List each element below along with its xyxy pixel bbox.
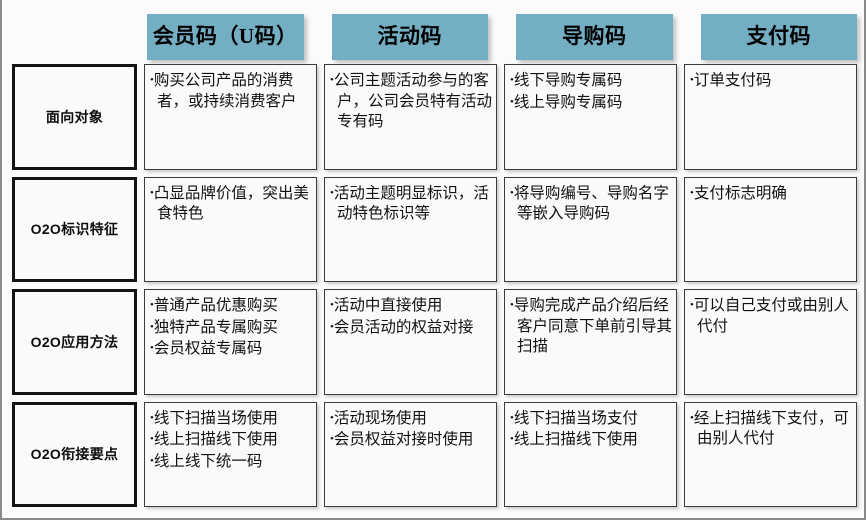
cell-r1c1: 活动主题明显标识，活动特色标识等 [324, 177, 497, 283]
cell-r3c2: 线下扫描当场支付 线上扫描线下使用 [504, 402, 677, 508]
list-item: 线下导购专属码 [510, 71, 673, 92]
cell-r3c1: 活动现场使用 会员权益对接时使用 [324, 402, 497, 508]
cell-r1c2: 将导购编号、导购名字等嵌入导购码 [504, 177, 677, 283]
list-item: 可以自己支付或由别人代付 [690, 296, 853, 337]
list-item: 购买公司产品的消费者，或持续消费客户 [150, 71, 313, 112]
bullet-list: 订单支付码 [690, 71, 853, 92]
bullet-list: 活动现场使用 会员权益对接时使用 [330, 409, 493, 451]
cell-r2c0: 普通产品优惠购买 独特产品专属购买 会员权益专属码 [144, 289, 317, 395]
table-row: O2O衔接要点 线下扫描当场使用 线上扫描线下使用 线上线下统一码 活动现场使用… [12, 402, 857, 508]
bullet-list: 线下扫描当场使用 线上扫描线下使用 线上线下统一码 [150, 409, 313, 473]
list-item: 独特产品专属购买 [150, 318, 313, 339]
list-item: 会员活动的权益对接 [330, 318, 493, 339]
bullet-list: 支付标志明确 [690, 184, 853, 205]
cell-r2c3: 可以自己支付或由别人代付 [684, 289, 857, 395]
cell-r1c0: 凸显品牌价值，突出美食特色 [144, 177, 317, 283]
table-row: O2O标识特征 凸显品牌价值，突出美食特色 活动主题明显标识，活动特色标识等 将… [12, 177, 857, 283]
row-label-connection-points: O2O衔接要点 [12, 402, 137, 508]
list-item: 凸显品牌价值，突出美食特色 [150, 184, 313, 225]
table-row: 面向对象 购买公司产品的消费者，或持续消费客户 公司主题活动参与的客户，公司会员… [12, 64, 857, 170]
list-item: 线下扫描当场支付 [510, 409, 673, 430]
list-item: 经上扫描线下支付，可由别人代付 [690, 409, 853, 450]
bullet-list: 凸显品牌价值，突出美食特色 [150, 184, 313, 225]
list-item: 活动现场使用 [330, 409, 493, 430]
list-item: 会员权益专属码 [150, 339, 313, 360]
cell-r1c3: 支付标志明确 [684, 177, 857, 283]
table-row: O2O应用方法 普通产品优惠购买 独特产品专属购买 会员权益专属码 活动中直接使… [12, 289, 857, 395]
list-item: 订单支付码 [690, 71, 853, 92]
comparison-matrix: 面向对象 购买公司产品的消费者，或持续消费客户 公司主题活动参与的客户，公司会员… [12, 64, 857, 507]
list-item: 线上扫描线下使用 [510, 430, 673, 451]
list-item: 线上扫描线下使用 [150, 430, 313, 451]
bullet-list: 将导购编号、导购名字等嵌入导购码 [510, 184, 673, 225]
row-label-identity-features: O2O标识特征 [12, 177, 137, 283]
bullet-list: 公司主题活动参与的客户，公司会员特有活动专有码 [330, 71, 493, 133]
list-item: 线下扫描当场使用 [150, 409, 313, 430]
cell-r3c0: 线下扫描当场使用 线上扫描线下使用 线上线下统一码 [144, 402, 317, 508]
cell-r3c3: 经上扫描线下支付，可由别人代付 [684, 402, 857, 508]
list-item: 公司主题活动参与的客户，公司会员特有活动专有码 [330, 71, 493, 133]
cell-r0c1: 公司主题活动参与的客户，公司会员特有活动专有码 [324, 64, 497, 170]
column-header-member-code: 会员码（U码） [147, 14, 304, 60]
bullet-list: 可以自己支付或由别人代付 [690, 296, 853, 337]
list-item: 线上导购专属码 [510, 93, 673, 114]
column-header-guide-code: 导购码 [516, 14, 673, 60]
list-item: 导购完成产品介绍后经客户同意下单前引导其扫描 [510, 296, 673, 358]
row-label-application-method: O2O应用方法 [12, 289, 137, 395]
bullet-list: 经上扫描线下支付，可由别人代付 [690, 409, 853, 450]
bullet-list: 线下扫描当场支付 线上扫描线下使用 [510, 409, 673, 451]
list-item: 线上线下统一码 [150, 452, 313, 473]
list-item: 活动主题明显标识，活动特色标识等 [330, 184, 493, 225]
bullet-list: 活动中直接使用 会员活动的权益对接 [330, 296, 493, 338]
cell-r2c2: 导购完成产品介绍后经客户同意下单前引导其扫描 [504, 289, 677, 395]
bullet-list: 线下导购专属码 线上导购专属码 [510, 71, 673, 113]
column-header-payment-code: 支付码 [701, 14, 858, 60]
list-item: 将导购编号、导购名字等嵌入导购码 [510, 184, 673, 225]
cell-r0c2: 线下导购专属码 线上导购专属码 [504, 64, 677, 170]
cell-r0c3: 订单支付码 [684, 64, 857, 170]
bullet-list: 活动主题明显标识，活动特色标识等 [330, 184, 493, 225]
list-item: 支付标志明确 [690, 184, 853, 205]
cell-r0c0: 购买公司产品的消费者，或持续消费客户 [144, 64, 317, 170]
list-item: 普通产品优惠购买 [150, 296, 313, 317]
list-item: 会员权益对接时使用 [330, 430, 493, 451]
slide-canvas: 会员码（U码） 活动码 导购码 支付码 面向对象 购买公司产品的消费者，或持续消… [0, 0, 866, 520]
column-header-row: 会员码（U码） 活动码 导购码 支付码 [147, 14, 857, 60]
list-item: 活动中直接使用 [330, 296, 493, 317]
column-header-activity-code: 活动码 [332, 14, 489, 60]
bullet-list: 普通产品优惠购买 独特产品专属购买 会员权益专属码 [150, 296, 313, 360]
cell-r2c1: 活动中直接使用 会员活动的权益对接 [324, 289, 497, 395]
bullet-list: 购买公司产品的消费者，或持续消费客户 [150, 71, 313, 112]
row-label-target-audience: 面向对象 [12, 64, 137, 170]
bullet-list: 导购完成产品介绍后经客户同意下单前引导其扫描 [510, 296, 673, 358]
